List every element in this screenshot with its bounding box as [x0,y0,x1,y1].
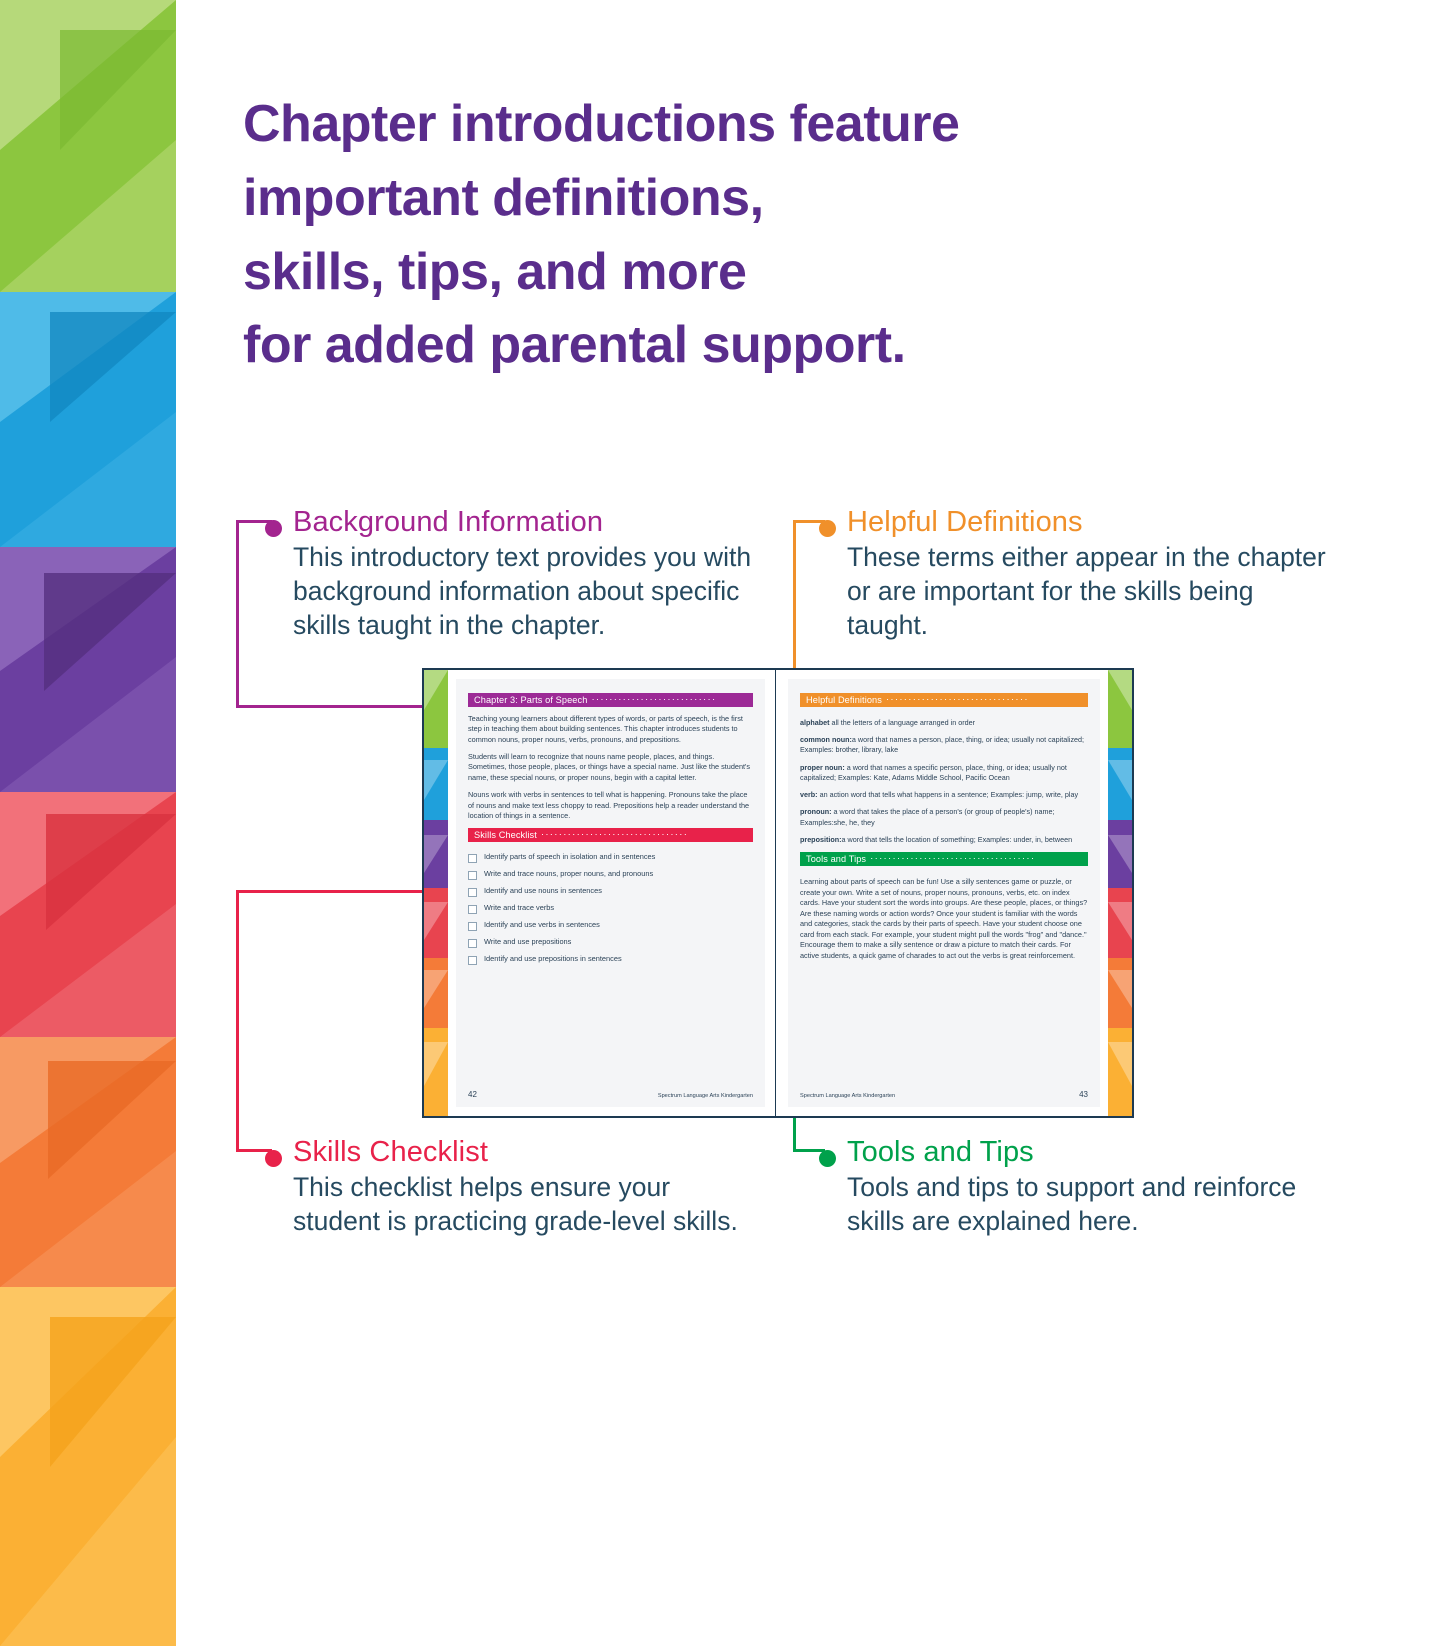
decorative-color-strip [0,0,176,1646]
headline-line-2: important definitions, [243,162,1143,236]
intro-paragraph-1: Teaching young learners about different … [468,714,753,745]
book-spread: Chapter 3: Parts of Speech ·············… [422,668,1134,1118]
checkbox-icon[interactable] [468,905,477,914]
tools-and-tips-label: Tools and Tips [800,852,870,866]
tools-and-tips-text: Learning about parts of speech can be fu… [800,877,1088,962]
book-source-right: Spectrum Language Arts Kindergarten [800,1093,895,1099]
right-page-footer: Spectrum Language Arts Kindergarten 43 [800,1090,1088,1099]
definition-text: an action word that tells what happens i… [818,790,1079,799]
intro-paragraph-2: Students will learn to recognize that no… [468,752,753,783]
chapter-title-bar: Chapter 3: Parts of Speech ·············… [468,693,753,707]
callout-title-skills-checklist: Skills Checklist [293,1136,753,1168]
color-band-purple [0,547,176,792]
color-band-orange [0,1037,176,1287]
checklist-item-label: Identify and use prepositions in sentenc… [484,955,622,963]
color-band-green [0,0,176,292]
book-page-right: Helpful Definitions ····················… [778,670,1132,1116]
page-edge-right-decoration [1108,670,1132,1116]
callout-dot-tools-and-tips [819,1150,836,1167]
headline-line-3: skills, tips, and more [243,236,1143,310]
checkbox-icon[interactable] [468,922,477,931]
checklist-item[interactable]: Identify and use nouns in sentences [468,887,753,897]
skills-bar-dots: ································· [541,828,753,842]
checklist-item[interactable]: Write and trace nouns, proper nouns, and… [468,870,753,880]
page-root: Chapter introductions feature important … [0,0,1440,1646]
chapter-title-label: Chapter 3: Parts of Speech [468,693,591,707]
checkbox-icon[interactable] [468,888,477,897]
checklist-item-label: Identify and use nouns in sentences [484,887,602,895]
checklist-item[interactable]: Write and use prepositions [468,938,753,948]
definition-term: pronoun: [800,807,832,816]
headline-line-4: for added parental support. [243,309,1143,383]
right-page-content: Helpful Definitions ····················… [800,693,1088,969]
definition-entry: proper noun: a word that names a specifi… [800,763,1088,783]
definition-entry: alphabet all the letters of a language a… [800,718,1088,728]
book-page-left: Chapter 3: Parts of Speech ·············… [424,670,776,1116]
checklist-item-label: Write and use prepositions [484,938,571,946]
checklist-item[interactable]: Identify and use verbs in sentences [468,921,753,931]
checkbox-icon[interactable] [468,854,477,863]
color-band-yellow [0,1287,176,1646]
color-band-blue [0,292,176,547]
left-page-footer: 42 Spectrum Language Arts Kindergarten [468,1090,753,1099]
skills-checklist-label: Skills Checklist [468,828,541,842]
helpful-definitions-label: Helpful Definitions [800,693,886,707]
definition-term: verb: [800,790,818,799]
checklist-item[interactable]: Identify and use prepositions in sentenc… [468,955,753,965]
callout-body-background-information: This introductory text provides you with… [293,541,763,643]
tools-and-tips-bar: Tools and Tips ·························… [800,852,1088,866]
definition-term: proper noun: [800,763,845,772]
headline-line-1: Chapter introductions feature [243,88,1143,162]
callout-title-helpful-definitions: Helpful Definitions [847,506,1327,538]
page-number-left: 42 [468,1090,477,1099]
intro-paragraph-3: Nouns work with verbs in sentences to te… [468,790,753,821]
definition-entry: preposition:a word that tells the locati… [800,835,1088,845]
chapter-bar-dots: ···························· [591,693,753,707]
definition-entry: pronoun: a word that takes the place of … [800,807,1088,827]
color-band-red [0,792,176,1037]
checkbox-icon[interactable] [468,939,477,948]
callout-dot-background-information [265,520,282,537]
skills-checklist-bar: Skills Checklist ·······················… [468,828,753,842]
callout-helpful-definitions: Helpful Definitions These terms either a… [847,506,1327,643]
checkbox-icon[interactable] [468,956,477,965]
page-title: Chapter introductions feature important … [243,88,1143,383]
checklist-item[interactable]: Write and trace verbs [468,904,753,914]
callout-title-background-information: Background Information [293,506,763,538]
callout-dot-skills-checklist [265,1150,282,1167]
definition-term: preposition: [800,835,842,844]
definition-text: all the letters of a language arranged i… [830,718,975,727]
definition-text: a word that tells the location of someth… [842,835,1073,844]
definition-term: alphabet [800,718,830,727]
book-sheet-right: Helpful Definitions ····················… [788,679,1100,1107]
definition-term: common noun: [800,735,852,744]
checklist-item[interactable]: Identify parts of speech in isolation an… [468,853,753,863]
definition-entry: verb: an action word that tells what hap… [800,790,1088,800]
definition-entry: common noun:a word that names a person, … [800,735,1088,755]
callout-dot-helpful-definitions [819,520,836,537]
page-number-right: 43 [1079,1090,1088,1099]
callout-title-tools-and-tips: Tools and Tips [847,1136,1337,1168]
definition-text: a word that takes the place of a person'… [800,807,1054,826]
checklist-item-label: Identify and use verbs in sentences [484,921,600,929]
left-page-content: Chapter 3: Parts of Speech ·············… [468,693,753,972]
callout-body-helpful-definitions: These terms either appear in the chapter… [847,541,1327,643]
book-source-left: Spectrum Language Arts Kindergarten [658,1093,753,1099]
callout-tools-and-tips: Tools and Tips Tools and tips to support… [847,1136,1337,1239]
definitions-bar-dots: ································ [886,693,1088,707]
checklist-item-label: Identify parts of speech in isolation an… [484,853,655,861]
page-edge-left-decoration [424,670,448,1116]
callout-body-tools-and-tips: Tools and tips to support and reinforce … [847,1171,1337,1239]
book-sheet-left: Chapter 3: Parts of Speech ·············… [456,679,765,1107]
callout-background-information: Background Information This introductory… [293,506,763,643]
checklist-item-label: Write and trace verbs [484,904,554,912]
callout-body-skills-checklist: This checklist helps ensure your student… [293,1171,753,1239]
tools-bar-dots: ····································· [870,852,1088,866]
checkbox-icon[interactable] [468,871,477,880]
checklist-item-label: Write and trace nouns, proper nouns, and… [484,870,653,878]
helpful-definitions-bar: Helpful Definitions ····················… [800,693,1088,707]
callout-skills-checklist: Skills Checklist This checklist helps en… [293,1136,753,1239]
